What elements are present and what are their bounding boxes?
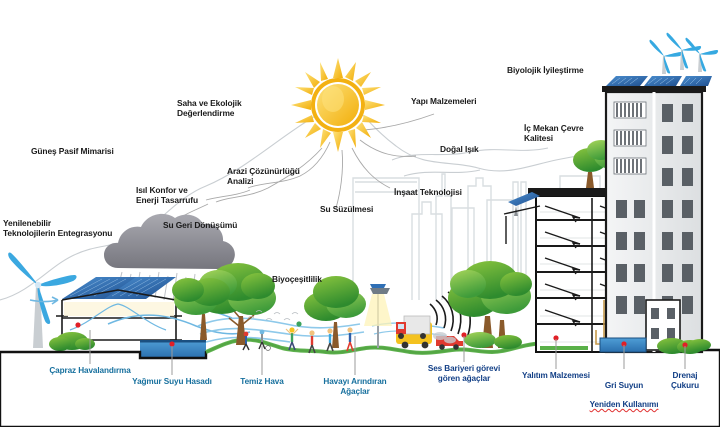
marker-dot (75, 322, 80, 327)
sound-barrier-trees (448, 261, 532, 349)
tower-louvers (614, 102, 646, 174)
bottom-label-yalitim-malzemesi: Yalıtım Malzemesi (522, 371, 590, 381)
rainwater-pool (140, 340, 206, 358)
sun-icon (291, 58, 385, 152)
bush-left (49, 332, 95, 351)
bottom-label-temiz-hava: Temiz Hava (240, 377, 283, 387)
top-label-arazi-cozunurlugu-analizi: Arazi Çözünürlüğü Analizi (227, 167, 300, 187)
top-label-ic-mekan-cevre-kalitesi: İç Mekan Çevre Kalitesi (524, 124, 584, 144)
marker-dot (169, 341, 174, 346)
top-label-yapi-malzemeleri: Yapı Malzemeleri (411, 97, 476, 107)
greywater-tank (600, 338, 646, 352)
bottom-label-ses-bariyeri-goren-agaclar: Ses Bariyeri görevi gören ağaçlar (428, 364, 500, 383)
top-label-biyolojik-iyilestirme: Biyolojik İyileştirme (507, 66, 584, 76)
greywater-line1: Gri Suyun (605, 381, 643, 390)
top-label-su-suzulmesi: Su Süzülmesi (320, 205, 373, 215)
top-label-insaat-teknolojisi: İnşaat Teknolojisi (394, 188, 462, 198)
bottom-label-havayi-arindiran-agaclar: Havayı Arındıran Ağaçlar (323, 377, 386, 396)
leader-lines (174, 114, 434, 222)
bottom-label-drenaj-cukuru: Drenaj Çukuru (668, 371, 703, 390)
top-label-dogal-isik: Doğal Işık (440, 145, 479, 155)
infographic-canvas: Güneş Pasif Mimarisi Saha ve Ekolojik De… (0, 0, 720, 427)
bottom-label-capraz-havalandirma: Çapraz Havalandırma (49, 366, 130, 376)
top-label-su-geri-donusumu: Su Geri Dönüşümü (163, 221, 237, 231)
greywater-line2: Yeniden Kullanımı (590, 400, 659, 409)
park-tree-right (304, 276, 366, 348)
top-label-biyocesitlilik: Biyoçeşitlilik (272, 275, 322, 285)
top-label-saha-ve-ekolojik-degerlendirme: Saha ve Ekolojik Değerlendirme (177, 99, 242, 119)
street-lamp (364, 284, 392, 348)
roof-wind-turbines (650, 33, 719, 74)
top-label-gunes-pasif-mimarisi: Güneş Pasif Mimarisi (31, 147, 114, 157)
bottom-label-gri-suyun-yeniden-kullanimi: Gri Suyun Yeniden Kullanımı (590, 371, 659, 410)
top-label-isil-konfor-ve-enerji-tasarrufu: Isıl Konfor ve Enerji Tasarrufu (136, 186, 198, 206)
bottom-label-yagmur-suyu-hasadi: Yağmur Suyu Hasadı (132, 377, 212, 387)
roof-solar-array (606, 76, 712, 86)
top-label-yenilenebilir-teknolojilerin-entegrasyonu: Yenilenebilir Teknolojilerin Entegrasyon… (3, 219, 112, 239)
solar-panels-greenhouse (62, 277, 176, 299)
